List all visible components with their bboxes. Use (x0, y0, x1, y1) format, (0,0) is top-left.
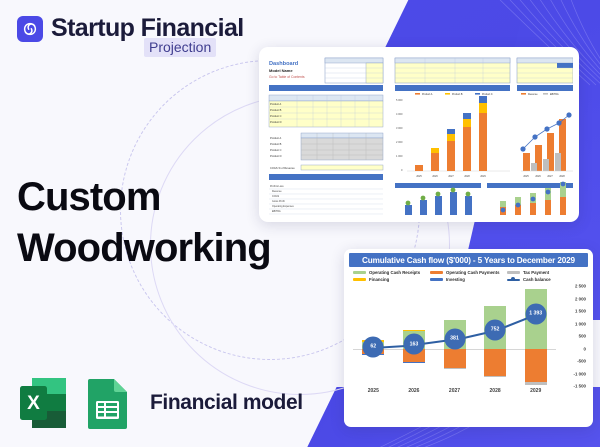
svg-text:4 000: 4 000 (396, 112, 403, 116)
svg-text:5 000: 5 000 (396, 98, 403, 102)
chart-bar-segment (403, 362, 425, 363)
chart-bars-layer: 621633817521 393 (353, 286, 556, 386)
legend-swatch-tax-payment (507, 271, 520, 274)
svg-text:COGS % of Revenue: COGS % of Revenue (270, 166, 295, 170)
legend-label: Tax Payment (523, 270, 549, 275)
legend-swatch-operating-cash-payments (430, 271, 443, 274)
legend-swatch-cash-balance (507, 279, 520, 281)
svg-text:2025: 2025 (416, 175, 422, 178)
svg-text:Product B: Product B (270, 142, 282, 146)
legend-label: Operating Cash Payments (446, 270, 500, 275)
y-axis-tick: -1 000 (574, 371, 586, 376)
chart-bar-segment (444, 349, 466, 368)
y-axis-tick: 2 000 (575, 296, 586, 301)
page-title-line1: Custom (17, 172, 271, 223)
y-axis-tick: 0 (584, 346, 586, 351)
y-axis-tick: -500 (577, 359, 586, 364)
legend-item: Operating Cash Receipts (353, 270, 430, 275)
svg-text:Revenue: Revenue (272, 190, 282, 193)
svg-text:Product B: Product B (452, 93, 463, 96)
svg-text:Product C: Product C (482, 93, 493, 96)
svg-text:2029: 2029 (480, 175, 486, 178)
svg-text:Dashboard: Dashboard (269, 61, 299, 67)
cash-flow-chart-card[interactable]: Cumulative Cash flow ($'000) - 5 Years t… (344, 249, 593, 427)
svg-text:0: 0 (401, 168, 403, 172)
legend-label: Cash balance (523, 277, 551, 282)
cash-balance-data-point: 163 (403, 334, 424, 355)
svg-text:Revenue: Revenue (528, 93, 538, 96)
svg-text:Product B: Product B (270, 108, 282, 112)
svg-text:3 000: 3 000 (396, 126, 403, 130)
chart-x-axis: 20252026202720282029 (353, 388, 556, 402)
svg-text:2028: 2028 (559, 175, 565, 178)
svg-text:COGS: COGS (272, 195, 279, 198)
svg-text:Gross Profit: Gross Profit (272, 200, 285, 203)
svg-text:Product A: Product A (270, 102, 282, 106)
y-axis-tick: 500 (579, 334, 586, 339)
y-axis-tick: -1 500 (574, 384, 586, 389)
chart-title: Cumulative Cash flow ($'000) - 5 Years t… (349, 253, 588, 267)
legend-item: Investing (430, 277, 507, 282)
x-axis-tick: 2029 (515, 388, 556, 402)
x-axis-tick: 2025 (353, 388, 394, 402)
x-axis-tick: 2026 (394, 388, 435, 402)
svg-text:Product A: Product A (270, 136, 282, 140)
legend-item: Financing (353, 277, 430, 282)
swirl-e-icon (17, 16, 43, 42)
legend-item: Tax Payment (507, 270, 584, 275)
chart-bar-segment (484, 349, 506, 376)
svg-text:Operating Expenses: Operating Expenses (272, 205, 294, 208)
y-axis-tick: 1 000 (575, 321, 586, 326)
google-sheets-icon (82, 375, 134, 431)
svg-text:Go to Table of Contents: Go to Table of Contents (269, 75, 305, 79)
brand-subtitle-wrap: Projection (144, 38, 216, 57)
svg-text:Product D: Product D (270, 120, 282, 124)
chart-bar (525, 286, 547, 386)
svg-text:2 000: 2 000 (396, 140, 403, 144)
svg-text:EBITDA: EBITDA (272, 210, 281, 213)
dashboard-preview-card[interactable]: Dashboard Model Name Go to Table of Cont… (259, 47, 579, 222)
chart-bar-segment (525, 382, 547, 385)
cash-balance-data-point: 62 (363, 336, 384, 357)
chart-bar-segment (484, 376, 506, 378)
svg-text:2026: 2026 (535, 175, 541, 178)
chart-plot-area: 621633817521 393 2 5002 0001 5001 000500… (349, 286, 588, 402)
legend-swatch-operating-cash-receipts (353, 271, 366, 274)
legend-label: Operating Cash Receipts (369, 270, 420, 275)
svg-text:2028: 2028 (464, 175, 470, 178)
microsoft-excel-icon: X (18, 375, 70, 431)
x-axis-tick: 2027 (434, 388, 475, 402)
legend-label: Investing (446, 277, 465, 282)
svg-text:2027: 2027 (547, 175, 553, 178)
cash-balance-data-point: 1 393 (525, 303, 546, 324)
page-title-line2: Woodworking (17, 223, 271, 274)
svg-text:Product C: Product C (270, 114, 282, 118)
svg-text:Profit & Loss: Profit & Loss (270, 185, 284, 188)
svg-text:2026: 2026 (432, 175, 438, 178)
legend-label: Financing (369, 277, 389, 282)
legend-swatch-investing (430, 278, 443, 281)
cash-balance-data-point: 752 (485, 319, 506, 340)
svg-text:EBITDA: EBITDA (550, 93, 559, 96)
svg-text:Product A: Product A (422, 93, 433, 96)
x-axis-tick: 2028 (475, 388, 516, 402)
legend-swatch-financing (353, 278, 366, 281)
y-axis-tick: 2 500 (575, 284, 586, 289)
y-axis-tick: 1 500 (575, 309, 586, 314)
brand-subtitle: Projection (144, 38, 216, 57)
chart-y-axis: 2 5002 0001 5001 0005000-500-1 000-1 500 (556, 286, 586, 386)
svg-text:1 000: 1 000 (396, 154, 403, 158)
page-title: Custom Woodworking (17, 172, 271, 274)
svg-text:2025: 2025 (523, 175, 529, 178)
svg-text:Product C: Product C (270, 148, 282, 152)
svg-text:2027: 2027 (448, 175, 454, 178)
chart-bar-segment (525, 349, 547, 383)
svg-text:Product D: Product D (270, 154, 282, 158)
footer-row: X Financial model (18, 375, 303, 431)
chart-bar-segment (403, 330, 425, 331)
footer-label: Financial model (150, 391, 303, 415)
cash-balance-data-point: 381 (444, 328, 465, 349)
svg-text:Model Name: Model Name (269, 68, 293, 73)
svg-text:X: X (27, 393, 40, 414)
spreadsheet-preview: Dashboard Model Name Go to Table of Cont… (265, 53, 573, 216)
legend-item: Cash balance (507, 277, 584, 282)
chart-bar-segment (444, 368, 466, 369)
legend-item: Operating Cash Payments (430, 270, 507, 275)
chart-legend: Operating Cash Receipts Operating Cash P… (349, 270, 588, 284)
